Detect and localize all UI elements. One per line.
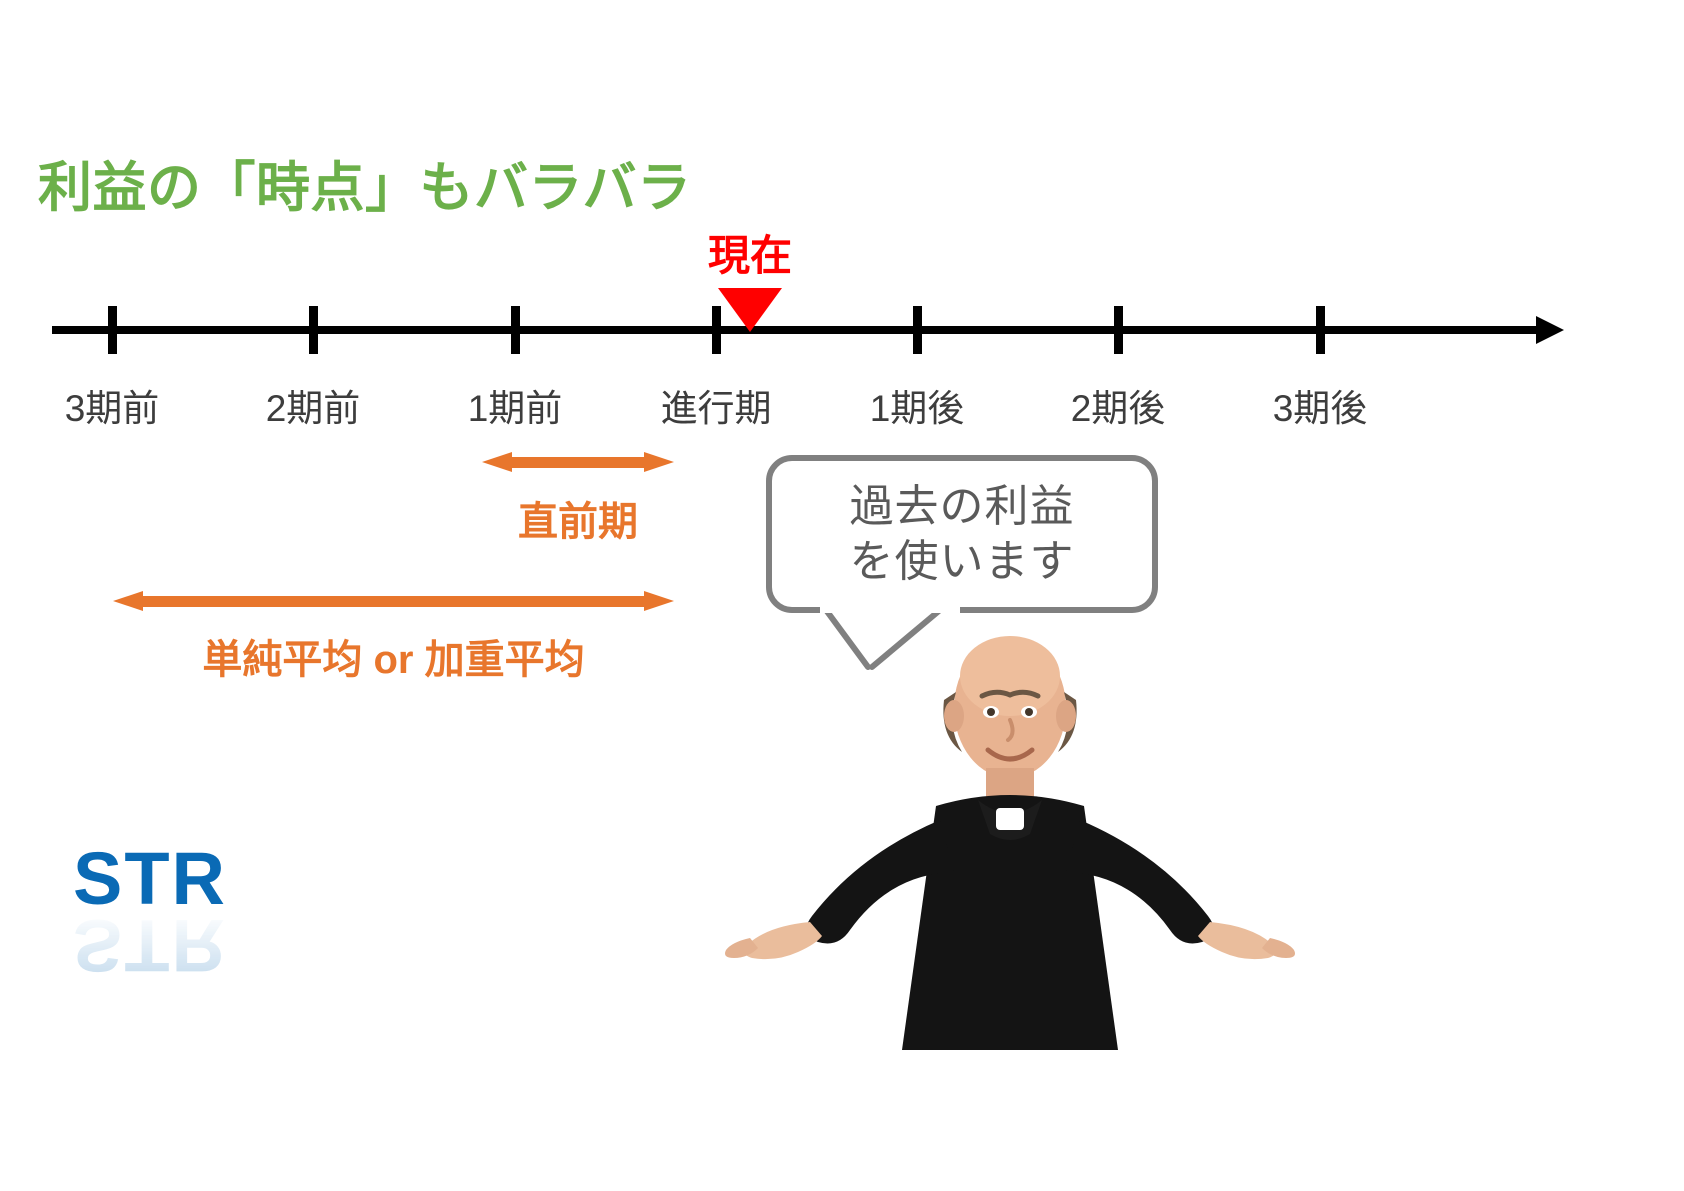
- arrow-head-right: [644, 452, 674, 472]
- speech-bubble-line-2: を使います: [850, 534, 1075, 589]
- double-arrow-horizontal-icon-recent-period: [482, 452, 674, 472]
- triangle-down-icon: [718, 288, 782, 332]
- annotation-label-average-range: 単純平均 or 加重平均: [113, 627, 674, 685]
- timeline-tick: [1316, 306, 1325, 354]
- timeline-label-current-period: 進行期: [606, 378, 826, 432]
- str-logo: STR: [73, 836, 227, 921]
- timeline-tick: [1114, 306, 1123, 354]
- timeline-tick: [913, 306, 922, 354]
- timeline-label-1-period-later: 1期後: [807, 378, 1027, 432]
- speech-bubble-tail: [820, 605, 960, 675]
- timeline-label-3-periods-ago: 3期前: [2, 378, 222, 432]
- page-title: 利益の「時点」もバラバラ: [38, 143, 691, 222]
- speech-bubble: 過去の利益 を使います: [766, 455, 1158, 613]
- speech-bubble-line-1: 過去の利益: [850, 479, 1075, 534]
- double-arrow-horizontal-icon-average-range: [113, 591, 674, 611]
- timeline-label-2-periods-ago: 2期前: [203, 378, 423, 432]
- timeline-label-3-periods-later: 3期後: [1210, 378, 1430, 432]
- timeline-tick: [108, 306, 117, 354]
- timeline-tick: [309, 306, 318, 354]
- person-priest-open-arms-illustration: [690, 630, 1330, 1050]
- slide-canvas: 利益の「時点」もバラバラ 3期前 2期前 1期前 進行期 1期後 2期後 3期後…: [0, 0, 1684, 1191]
- arrow-bar: [508, 457, 648, 468]
- annotation-label-recent-period: 直前期: [482, 489, 674, 547]
- arrow-head-right: [644, 591, 674, 611]
- timeline-label-1-period-ago: 1期前: [405, 378, 625, 432]
- timeline-label-2-periods-later: 2期後: [1008, 378, 1228, 432]
- timeline-arrowhead-icon: [1536, 316, 1564, 344]
- timeline-tick: [511, 306, 520, 354]
- present-marker-label: 現在: [640, 222, 860, 283]
- arrow-bar: [139, 596, 648, 607]
